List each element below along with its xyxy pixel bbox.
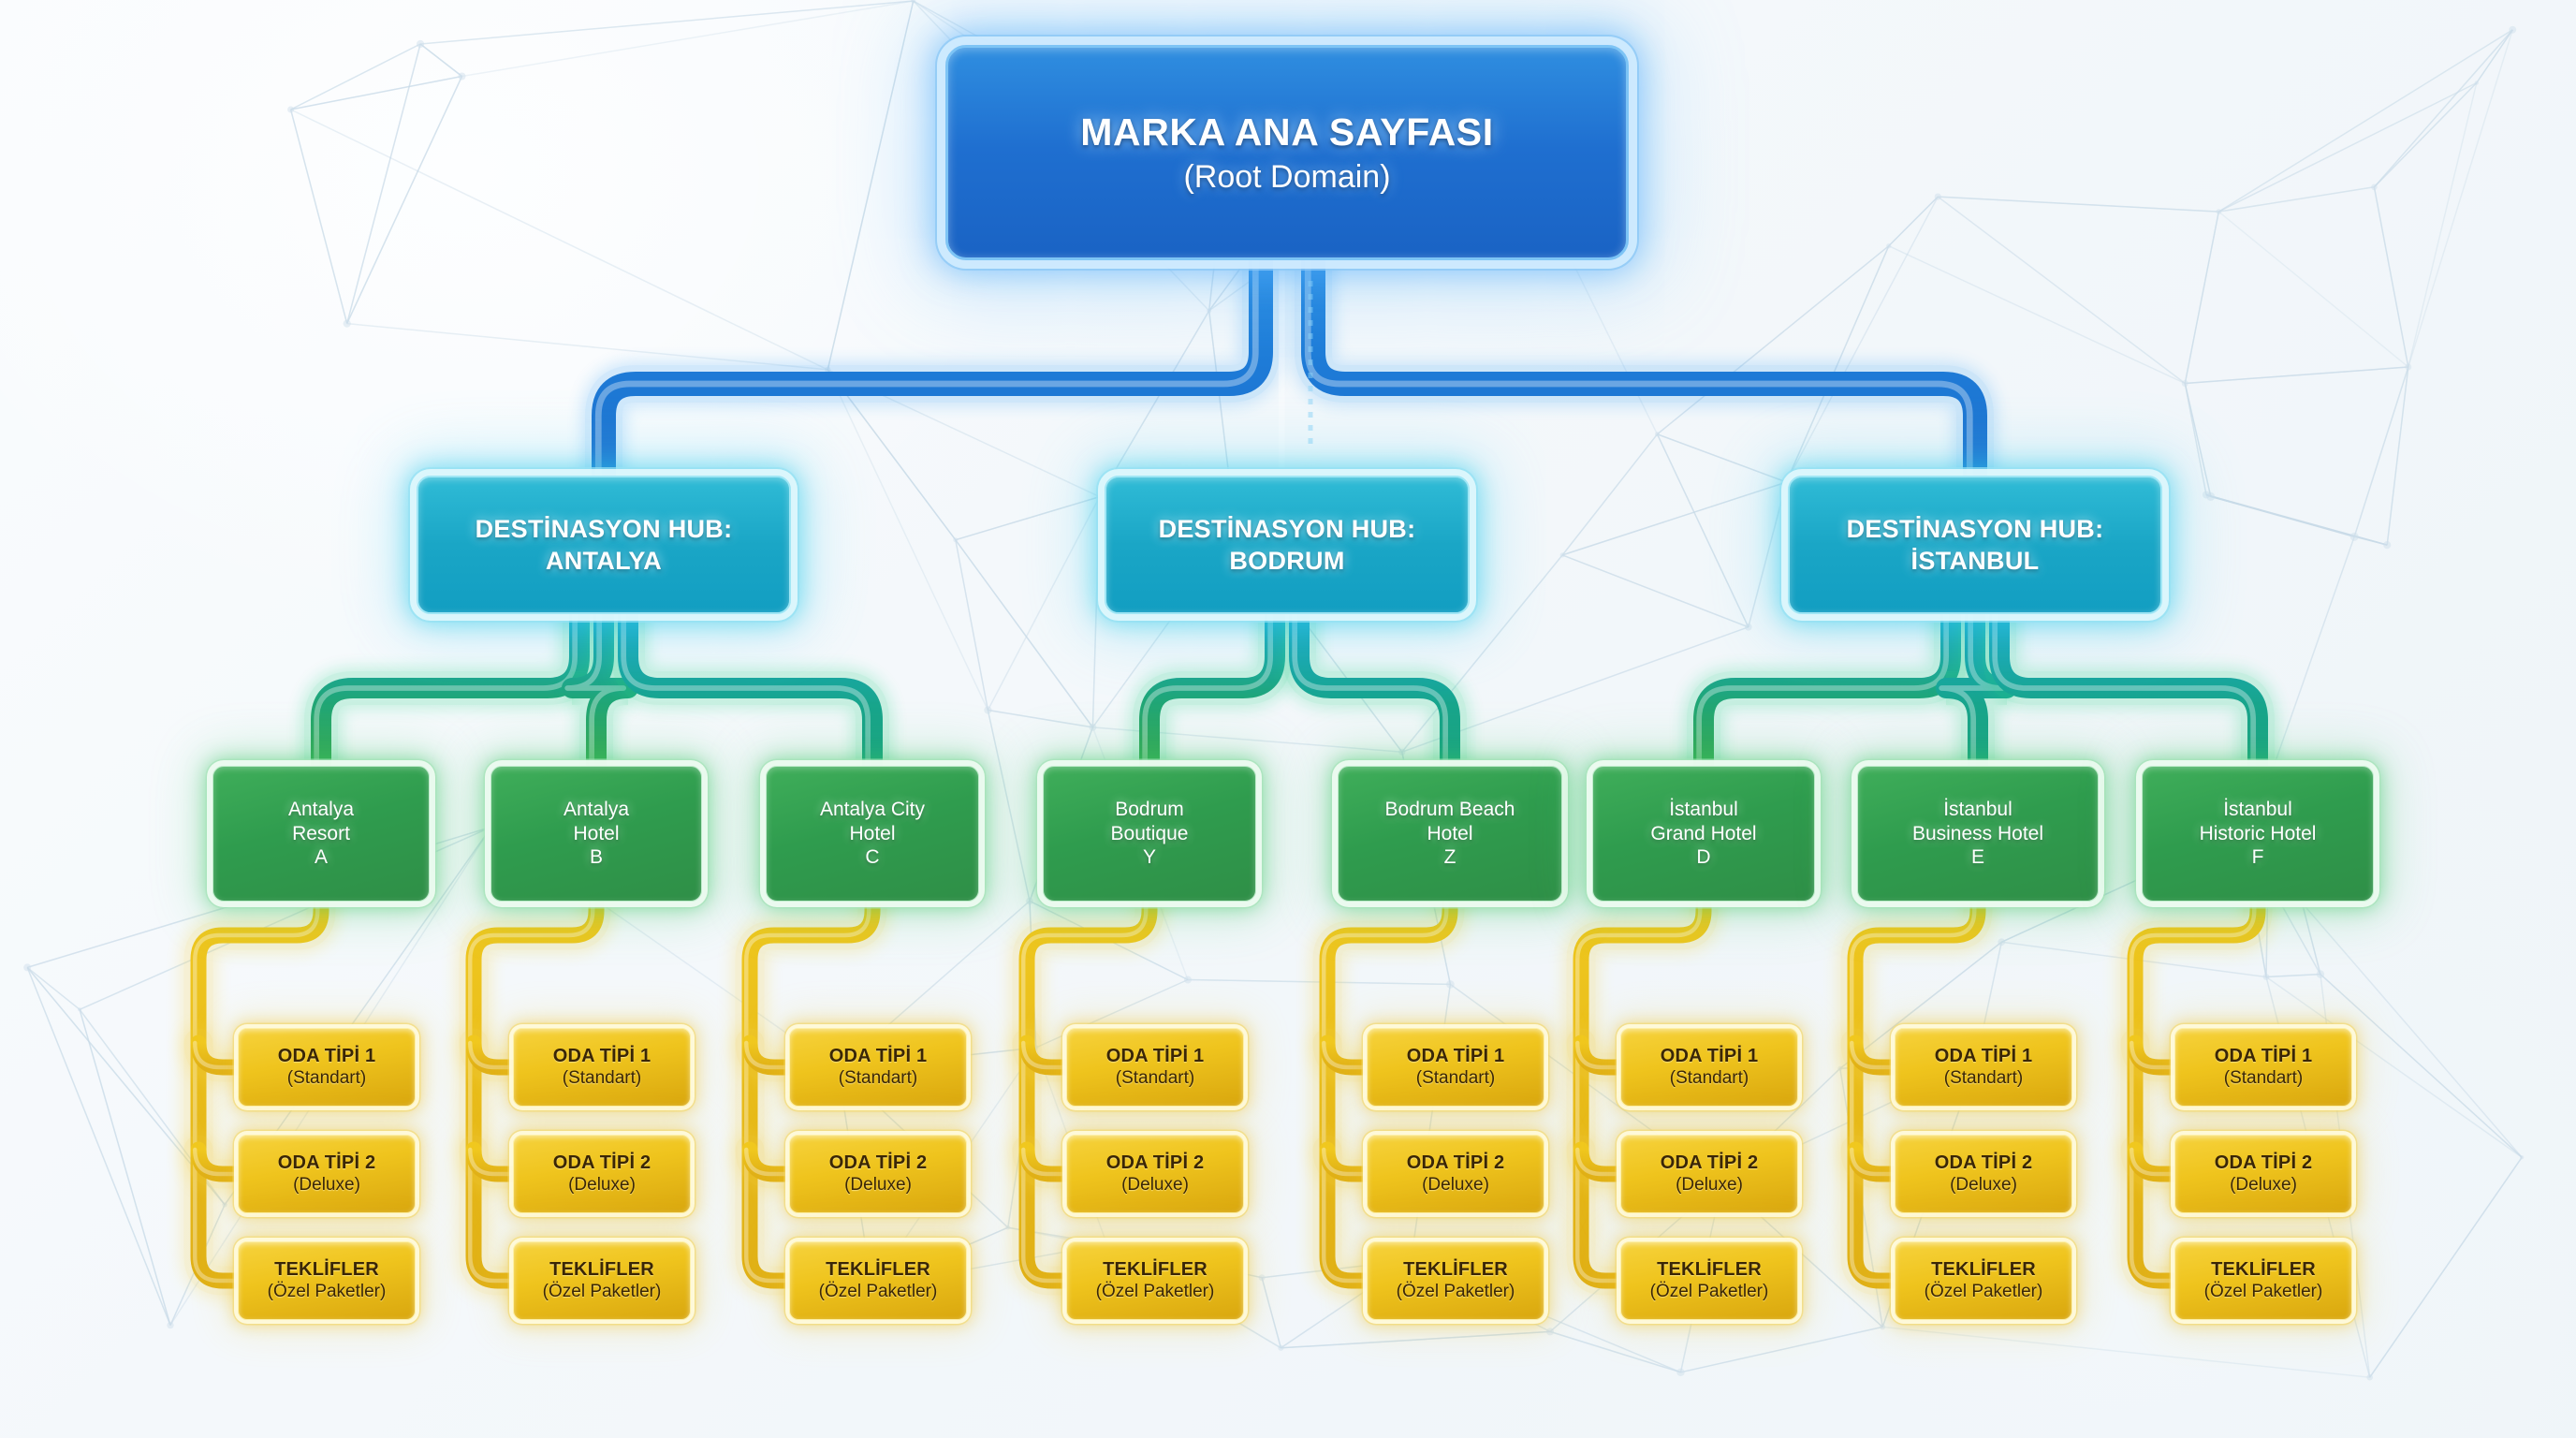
leaf-subtitle: (Standart) — [1944, 1068, 2023, 1089]
leaf-node-4-1[interactable]: ODA TİPİ 2 (Deluxe) — [1367, 1135, 1544, 1213]
leaf-node-4-2[interactable]: TEKLİFLER (Özel Paketler) — [1367, 1241, 1544, 1320]
leaf-title: ODA TİPİ 2 — [553, 1152, 651, 1174]
leaf-subtitle: (Standart) — [563, 1068, 641, 1089]
leaf-node-6-2[interactable]: TEKLİFLER (Özel Paketler) — [1895, 1241, 2072, 1320]
hotel-line2: Boutique — [1111, 822, 1189, 846]
hotel-line1: Bodrum Beach — [1385, 798, 1515, 822]
diagram-stage: MARKA ANA SAYFASI (Root Domain) DESTİNAS… — [0, 0, 2576, 1438]
hotel-line1: İstanbul — [1669, 798, 1738, 822]
hotel-line2: Historic Hotel — [2200, 822, 2317, 846]
leaf-title: TEKLİFLER — [274, 1259, 379, 1281]
hotel-code: F — [2252, 845, 2264, 870]
hub-node-2[interactable]: DESTİNASYON HUB: İSTANBUL — [1788, 476, 2162, 614]
leaf-node-5-1[interactable]: ODA TİPİ 2 (Deluxe) — [1620, 1135, 1798, 1213]
leaf-node-2-2[interactable]: TEKLİFLER (Özel Paketler) — [789, 1241, 967, 1320]
leaf-subtitle: (Özel Paketler) — [1096, 1282, 1215, 1302]
leaf-subtitle: (Deluxe) — [568, 1175, 636, 1196]
leaf-subtitle: (Standart) — [287, 1068, 366, 1089]
hotel-code: C — [865, 845, 879, 870]
leaf-node-2-1[interactable]: ODA TİPİ 2 (Deluxe) — [789, 1135, 967, 1213]
hub-label: DESTİNASYON HUB: — [476, 515, 733, 544]
leaf-subtitle: (Standart) — [1416, 1068, 1495, 1089]
leaf-node-0-1[interactable]: ODA TİPİ 2 (Deluxe) — [238, 1135, 416, 1213]
leaf-node-7-1[interactable]: ODA TİPİ 2 (Deluxe) — [2174, 1135, 2352, 1213]
hub-city: ANTALYA — [546, 547, 662, 576]
leaf-node-3-0[interactable]: ODA TİPİ 1 (Standart) — [1066, 1028, 1244, 1107]
leaf-node-4-0[interactable]: ODA TİPİ 1 (Standart) — [1367, 1028, 1544, 1107]
leaf-subtitle: (Özel Paketler) — [819, 1282, 938, 1302]
root-title: MARKA ANA SAYFASI — [1080, 110, 1494, 154]
leaf-node-7-2[interactable]: TEKLİFLER (Özel Paketler) — [2174, 1241, 2352, 1320]
leaf-title: TEKLİFLER — [1657, 1259, 1762, 1281]
leaf-subtitle: (Deluxe) — [293, 1175, 360, 1196]
hotel-node-2[interactable]: Antalya City Hotel C — [766, 766, 979, 902]
leaf-subtitle: (Özel Paketler) — [1925, 1282, 2043, 1302]
leaf-node-6-1[interactable]: ODA TİPİ 2 (Deluxe) — [1895, 1135, 2072, 1213]
hotel-node-4[interactable]: Bodrum Beach Hotel Z — [1338, 766, 1562, 902]
leaf-title: ODA TİPİ 2 — [1661, 1152, 1759, 1174]
hotel-line1: Antalya — [288, 798, 354, 822]
hotel-code: B — [590, 845, 603, 870]
leaf-node-6-0[interactable]: ODA TİPİ 1 (Standart) — [1895, 1028, 2072, 1107]
hotel-line1: Antalya — [563, 798, 629, 822]
leaf-node-5-0[interactable]: ODA TİPİ 1 (Standart) — [1620, 1028, 1798, 1107]
leaf-subtitle: (Özel Paketler) — [543, 1282, 662, 1302]
hotel-line2: Resort — [292, 822, 350, 846]
leaf-node-3-1[interactable]: ODA TİPİ 2 (Deluxe) — [1066, 1135, 1244, 1213]
leaf-subtitle: (Deluxe) — [1422, 1175, 1489, 1196]
hotel-code: Z — [1444, 845, 1456, 870]
hub-node-0[interactable]: DESTİNASYON HUB: ANTALYA — [417, 476, 791, 614]
hotel-line2: Hotel — [849, 822, 895, 846]
hub-label: DESTİNASYON HUB: — [1847, 515, 2104, 544]
hotel-code: A — [315, 845, 328, 870]
leaf-title: TEKLİFLER — [549, 1259, 654, 1281]
leaf-title: TEKLİFLER — [826, 1259, 930, 1281]
leaf-subtitle: (Standart) — [1670, 1068, 1749, 1089]
leaf-title: ODA TİPİ 1 — [2215, 1046, 2313, 1067]
leaf-title: ODA TİPİ 1 — [278, 1046, 376, 1067]
leaf-title: ODA TİPİ 1 — [829, 1046, 928, 1067]
leaf-title: ODA TİPİ 1 — [1935, 1046, 2033, 1067]
hotel-code: D — [1696, 845, 1710, 870]
leaf-subtitle: (Özel Paketler) — [1397, 1282, 1515, 1302]
leaf-title: TEKLİFLER — [1103, 1259, 1207, 1281]
leaf-title: ODA TİPİ 2 — [1106, 1152, 1205, 1174]
hotel-line2: Business Hotel — [1912, 822, 2043, 846]
hotel-node-0[interactable]: Antalya Resort A — [212, 766, 430, 902]
leaf-subtitle: (Standart) — [2224, 1068, 2303, 1089]
leaf-subtitle: (Deluxe) — [844, 1175, 912, 1196]
hotel-line2: Grand Hotel — [1650, 822, 1756, 846]
hotel-node-3[interactable]: Bodrum Boutique Y — [1043, 766, 1256, 902]
root-node[interactable]: MARKA ANA SAYFASI (Root Domain) — [945, 45, 1629, 260]
hotel-line1: İstanbul — [2223, 798, 2292, 822]
root-subtitle: (Root Domain) — [1183, 159, 1390, 196]
leaf-title: TEKLİFLER — [1403, 1259, 1508, 1281]
leaf-title: ODA TİPİ 1 — [1106, 1046, 1205, 1067]
hub-city: BODRUM — [1229, 547, 1344, 576]
hotel-node-5[interactable]: İstanbul Grand Hotel D — [1592, 766, 1815, 902]
hub-city: İSTANBUL — [1911, 547, 2040, 576]
hotel-line2: Hotel — [1427, 822, 1472, 846]
hotel-node-7[interactable]: İstanbul Historic Hotel F — [2142, 766, 2374, 902]
leaf-subtitle: (Deluxe) — [1950, 1175, 2017, 1196]
leaf-subtitle: (Deluxe) — [1121, 1175, 1189, 1196]
leaf-title: ODA TİPİ 2 — [1935, 1152, 2033, 1174]
leaf-title: TEKLİFLER — [1931, 1259, 2036, 1281]
hotel-code: Y — [1143, 845, 1156, 870]
leaf-subtitle: (Deluxe) — [1676, 1175, 1743, 1196]
leaf-title: ODA TİPİ 1 — [1661, 1046, 1759, 1067]
leaf-title: ODA TİPİ 1 — [1407, 1046, 1505, 1067]
hotel-node-1[interactable]: Antalya Hotel B — [490, 766, 702, 902]
hotel-node-6[interactable]: İstanbul Business Hotel E — [1857, 766, 2099, 902]
leaf-title: ODA TİPİ 2 — [2215, 1152, 2313, 1174]
leaf-title: ODA TİPİ 1 — [553, 1046, 651, 1067]
leaf-subtitle: (Özel Paketler) — [1650, 1282, 1769, 1302]
leaf-node-7-0[interactable]: ODA TİPİ 1 (Standart) — [2174, 1028, 2352, 1107]
hub-label: DESTİNASYON HUB: — [1159, 515, 1416, 544]
leaf-node-1-1[interactable]: ODA TİPİ 2 (Deluxe) — [513, 1135, 691, 1213]
leaf-title: ODA TİPİ 2 — [278, 1152, 376, 1174]
hotel-code: E — [1971, 845, 1984, 870]
leaf-node-5-2[interactable]: TEKLİFLER (Özel Paketler) — [1620, 1241, 1798, 1320]
leaf-subtitle: (Özel Paketler) — [2204, 1282, 2323, 1302]
hotel-line1: İstanbul — [1943, 798, 2012, 822]
hotel-line1: Bodrum — [1115, 798, 1184, 822]
leaf-subtitle: (Standart) — [1116, 1068, 1194, 1089]
leaf-subtitle: (Deluxe) — [2230, 1175, 2297, 1196]
leaf-subtitle: (Özel Paketler) — [268, 1282, 387, 1302]
hotel-line2: Hotel — [573, 822, 619, 846]
leaf-subtitle: (Standart) — [839, 1068, 917, 1089]
hub-node-1[interactable]: DESTİNASYON HUB: BODRUM — [1105, 476, 1470, 614]
hotel-line1: Antalya City — [820, 798, 925, 822]
leaf-node-0-0[interactable]: ODA TİPİ 1 (Standart) — [238, 1028, 416, 1107]
leaf-node-2-0[interactable]: ODA TİPİ 1 (Standart) — [789, 1028, 967, 1107]
leaf-node-1-2[interactable]: TEKLİFLER (Özel Paketler) — [513, 1241, 691, 1320]
leaf-node-3-2[interactable]: TEKLİFLER (Özel Paketler) — [1066, 1241, 1244, 1320]
leaf-title: ODA TİPİ 2 — [829, 1152, 928, 1174]
leaf-node-1-0[interactable]: ODA TİPİ 1 (Standart) — [513, 1028, 691, 1107]
leaf-title: ODA TİPİ 2 — [1407, 1152, 1505, 1174]
leaf-title: TEKLİFLER — [2211, 1259, 2316, 1281]
leaf-node-0-2[interactable]: TEKLİFLER (Özel Paketler) — [238, 1241, 416, 1320]
